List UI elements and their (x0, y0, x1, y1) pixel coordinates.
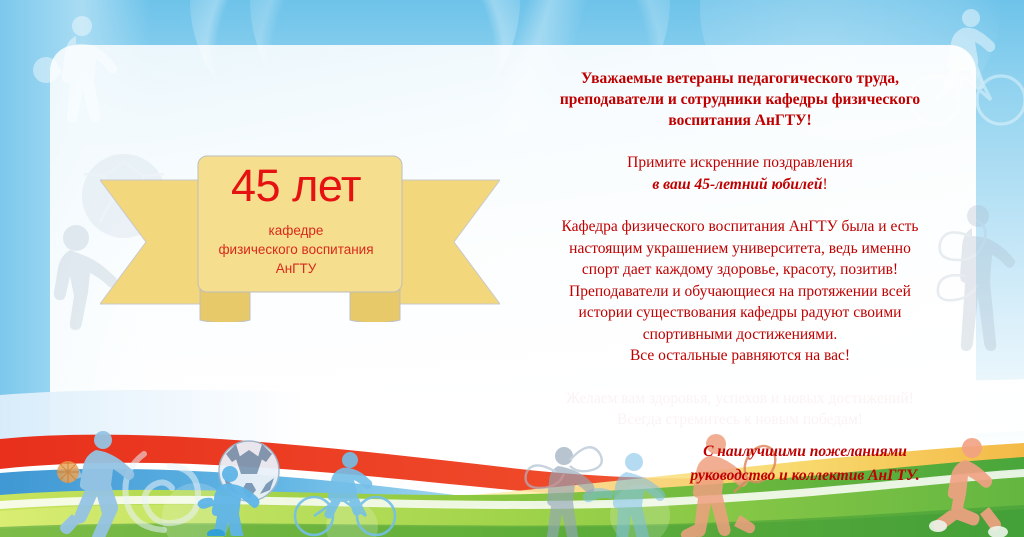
cyclist-silhouette (288, 448, 398, 537)
congratulation-card: 45 лет кафедре физического воспитания Ан… (0, 0, 1024, 537)
body-line-4: Преподаватели и обучающиеся на протяжени… (520, 281, 960, 303)
greeting-emphasis-row: в ваш 45-летний юбилей! (520, 174, 960, 196)
body-line-2: настоящим украшением университета, ведь … (520, 238, 960, 260)
soccer-player-silhouette (196, 464, 268, 536)
ribbon-subtitle-line-1: кафедре (218, 221, 373, 240)
signature-line-1: С наилучшими пожеланиями (640, 440, 970, 464)
signature-block: С наилучшими пожеланиями руководство и к… (640, 440, 970, 488)
ribbon-subtitle: кафедре физического воспитания АнГТУ (218, 221, 373, 278)
body-line-3: спорт дает каждому здоровье, красоту, по… (520, 259, 960, 281)
rhythmic-gymnast-silhouette (518, 432, 610, 537)
ribbon-years-label: 45 лет (231, 161, 361, 211)
message-heading-line-1: Уважаемые ветераны педагогического труда… (520, 68, 960, 89)
spacer-1 (520, 131, 960, 152)
message-heading: Уважаемые ветераны педагогического труда… (520, 68, 960, 131)
body-line-1: Кафедра физического воспитания АнГТУ был… (520, 216, 960, 238)
ribbon-subtitle-line-2: физического воспитания (218, 240, 373, 259)
greeting-emphasis: в ваш 45-летний юбилей (652, 176, 822, 193)
body-line-5: истории существования кафедры радуют сво… (520, 302, 960, 324)
spacer-2 (520, 195, 960, 216)
body-line-7: Все остальные равняются на вас! (520, 345, 960, 367)
basketball-player-silhouette (48, 428, 143, 537)
body-line-6: спортивными достижениями. (520, 324, 960, 346)
message-heading-line-3: воспитания АнГТУ! (520, 110, 960, 131)
ribbon-text-block: 45 лет кафедре физического воспитания Ан… (196, 155, 396, 290)
signature-line-2: руководство и коллектив АнГТУ. (640, 464, 970, 488)
message-heading-line-2: преподаватели и сотрудники кафедры физич… (520, 89, 960, 110)
ribbon-subtitle-line-3: АнГТУ (218, 259, 373, 278)
greeting-emphasis-tail: ! (822, 176, 827, 193)
greeting-line: Примите искренние поздравления (520, 152, 960, 174)
